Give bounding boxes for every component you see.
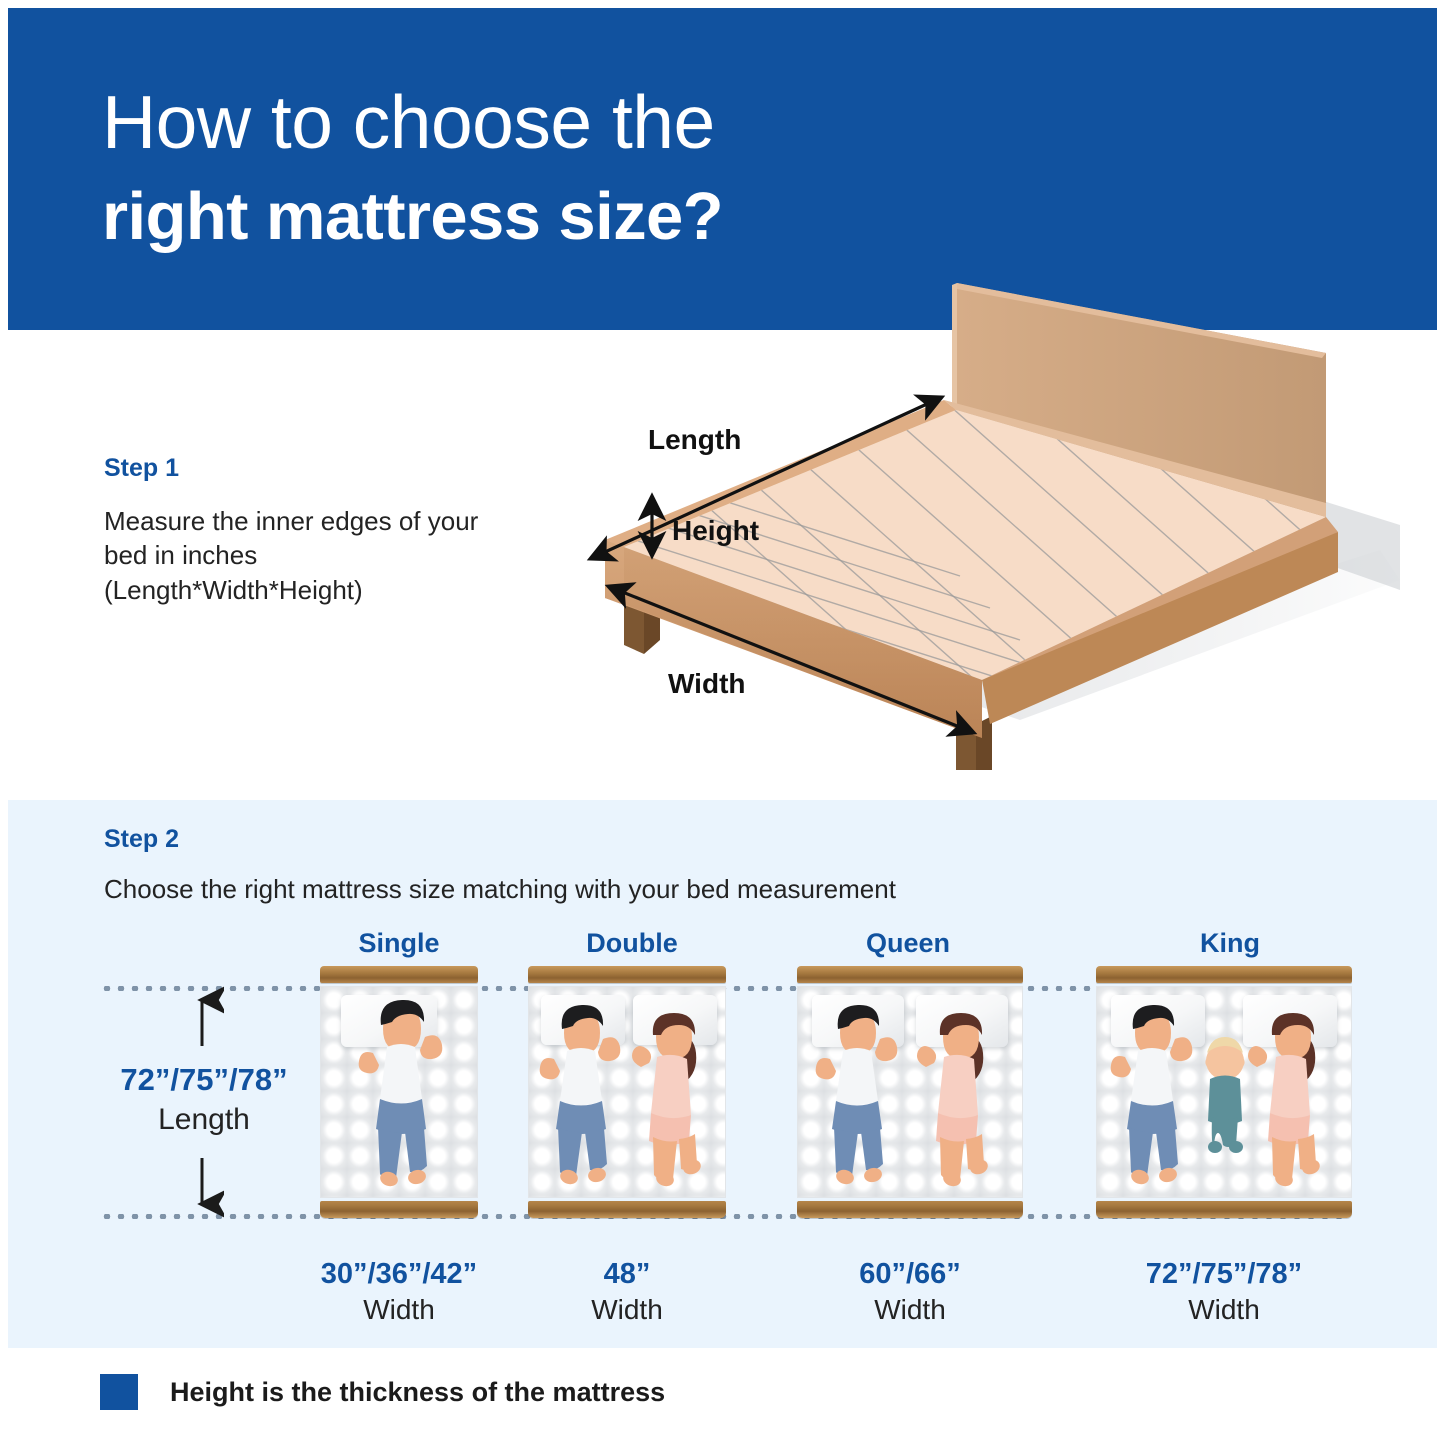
infographic-stage: How to choose the right mattress size? S… [0,0,1445,1445]
bed-frame-bottom-single [320,1201,478,1218]
size-header-double: Double [542,928,722,959]
size-header-single: Single [316,928,482,959]
bed-length-label: Length [648,424,741,455]
bed-frame-bottom-queen [797,1201,1023,1218]
mattress-surface-king [1096,986,1352,1198]
width-value-queen: 60”/66” [800,1258,1020,1291]
width-value-single: 30”/36”/42” [288,1258,510,1291]
width-value-king: 72”/75”/78” [1112,1258,1336,1291]
size-header-king: King [1140,928,1320,959]
bed-frame-top-single [320,966,478,983]
bed-height-label: Height [672,515,759,546]
bed-frame-top-double [528,966,726,983]
sleeper-figures-family [1097,987,1353,1199]
mattress-surface-single [320,986,478,1198]
bed-frame-bottom-double [528,1201,726,1218]
length-guide-arrows [180,986,224,1218]
width-word-double: Width [530,1294,724,1326]
step-2-description: Choose the right mattress size matching … [104,873,1304,907]
bed-frame-top-queen [797,966,1023,983]
width-word-single: Width [288,1294,510,1326]
mattress-double [528,966,726,1218]
bed-illustration: Length Height Width [520,250,1400,770]
bed-frame-top-king [1096,966,1352,983]
width-value-double: 48” [530,1258,724,1291]
size-header-queen: Queen [818,928,998,959]
sleeper-figure-man [321,987,479,1199]
legend-color-swatch [100,1374,138,1410]
length-guide-word: Length [96,1103,312,1137]
step-1-label: Step 1 [104,455,504,483]
width-word-king: Width [1112,1294,1336,1326]
step-1-block: Step 1 Measure the inner edges of your b… [104,455,504,607]
legend-note: Height is the thickness of the mattress [170,1377,665,1408]
step-1-description: Measure the inner edges of your bed in i… [104,504,504,608]
step-2-block: Step 2 Choose the right mattress size ma… [104,826,1304,906]
bed-width-label: Width [668,668,746,699]
sleeper-figures-couple [529,987,727,1199]
page-title-line-2: right mattress size? [102,183,723,250]
bed-frame-bottom-king [1096,1201,1352,1218]
length-guide-value: 72”/75”/78” [96,1062,312,1098]
page-title-line-1: How to choose the [102,85,715,160]
step-2-label: Step 2 [104,826,1304,854]
mattress-surface-double [528,986,726,1198]
sleeper-figures-couple [798,987,1024,1199]
width-word-queen: Width [800,1294,1020,1326]
mattress-king [1096,966,1352,1218]
mattress-surface-queen [797,986,1023,1198]
mattress-queen [797,966,1023,1218]
mattress-single [320,966,478,1218]
